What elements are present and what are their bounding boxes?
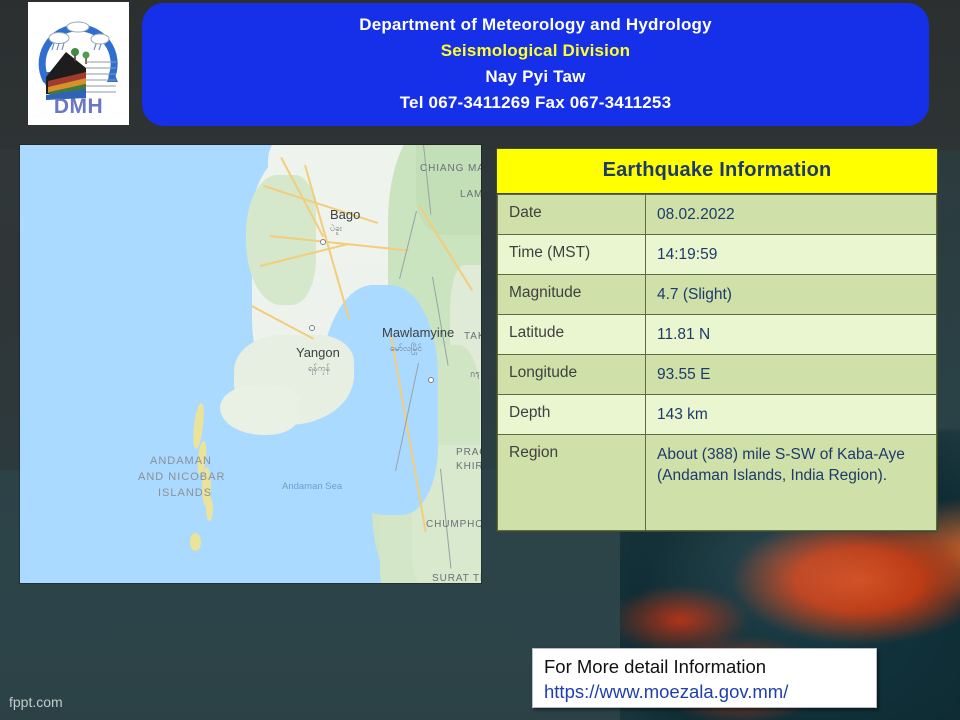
header-city-line: Nay Pyi Taw <box>142 64 929 90</box>
header-contact-line: Tel 067-3411269 Fax 067-3411253 <box>142 90 929 116</box>
row-label-date: Date <box>498 195 646 235</box>
row-label-time: Time (MST) <box>498 235 646 275</box>
row-value-magnitude: 4.7 (Slight) <box>646 275 937 315</box>
earthquake-information-table: Date 08.02.2022 Time (MST) 14:19:59 Magn… <box>497 194 937 531</box>
row-label-region: Region <box>498 435 646 531</box>
row-label-magnitude: Magnitude <box>498 275 646 315</box>
more-information-box: For More detail Information https://www.… <box>532 648 877 708</box>
table-row: Time (MST) 14:19:59 <box>498 235 937 275</box>
table-row: Longitude 93.55 E <box>498 355 937 395</box>
watermark-label: fppt.com <box>9 694 63 710</box>
row-label-longitude: Longitude <box>498 355 646 395</box>
row-label-latitude: Latitude <box>498 315 646 355</box>
more-info-link[interactable]: https://www.moezala.gov.mm/ <box>544 679 876 705</box>
dmh-logo-text: DMH <box>28 95 129 119</box>
table-row: Magnitude 4.7 (Slight) <box>498 275 937 315</box>
epicenter-map[interactable]: CHIANG MAI LAMPANG Bago ပဲခူး Yangon ရန်… <box>20 145 481 583</box>
table-row: Region About (388) mile S-SW of Kaba-Aye… <box>498 435 937 531</box>
map-city-dot-yangon <box>309 325 315 331</box>
row-value-region: About (388) mile S-SW of Kaba-Aye (Andam… <box>646 435 937 531</box>
info-panel-title: Earthquake Information <box>497 149 937 194</box>
row-value-longitude: 93.55 E <box>646 355 937 395</box>
row-value-date: 08.02.2022 <box>646 195 937 235</box>
row-value-time: 14:19:59 <box>646 235 937 275</box>
map-label-islands-line2: AND NICOBAR <box>138 471 225 483</box>
row-value-latitude: 11.81 N <box>646 315 937 355</box>
row-value-depth: 143 km <box>646 395 937 435</box>
row-label-depth: Depth <box>498 395 646 435</box>
header-division-line: Seismological Division <box>142 38 929 64</box>
header-banner: Department of Meteorology and Hydrology … <box>142 3 929 126</box>
table-row: Depth 143 km <box>498 395 937 435</box>
map-island-little-andaman <box>206 497 213 521</box>
table-row: Latitude 11.81 N <box>498 315 937 355</box>
table-row: Date 08.02.2022 <box>498 195 937 235</box>
map-city-dot-bago <box>320 239 326 245</box>
earthquake-information-panel: Earthquake Information Date 08.02.2022 T… <box>496 148 938 532</box>
header-department-line: Department of Meteorology and Hydrology <box>142 12 929 38</box>
map-city-dot-mawlamyine <box>428 377 434 383</box>
map-landmass-delta-west <box>220 385 300 435</box>
dmh-logo: DMH <box>28 2 129 125</box>
map-island-nicobar <box>190 533 201 551</box>
more-info-text: For More detail Information <box>544 654 876 679</box>
